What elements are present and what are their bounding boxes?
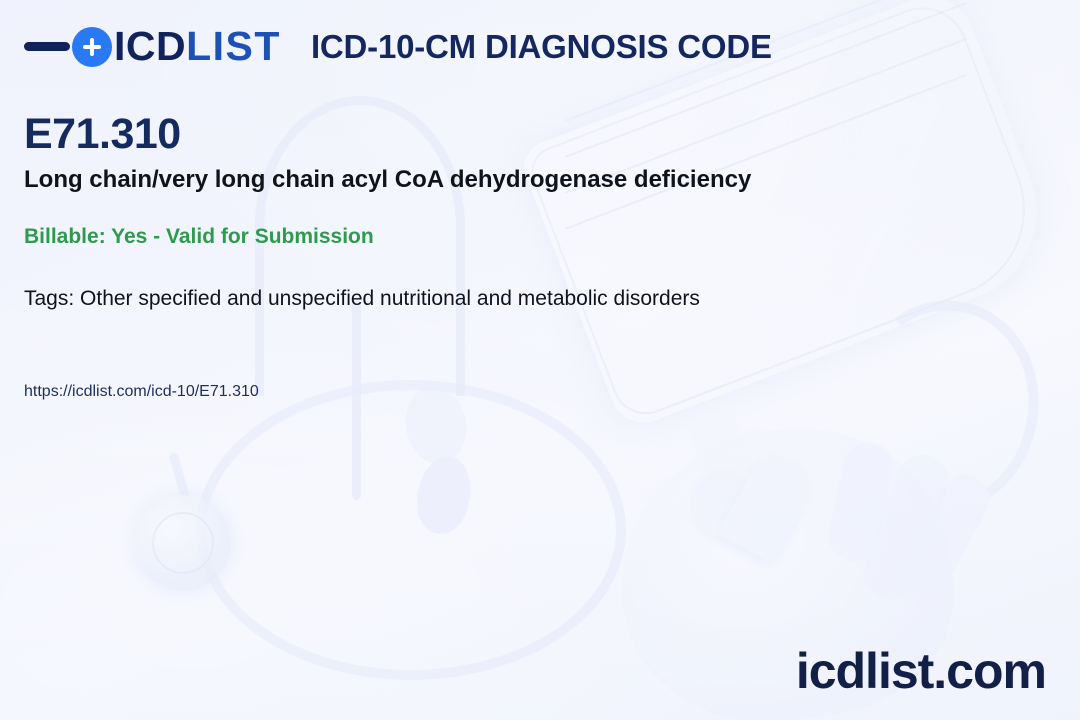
brand-watermark: icdlist.com: [796, 646, 1046, 696]
page-header: ICD LIST ICD-10-CM DIAGNOSIS CODE: [24, 26, 772, 67]
plus-icon: [72, 27, 112, 67]
dash-icon: [24, 42, 70, 51]
logo-text-list: LIST: [186, 26, 281, 67]
diagnosis-code: E71.310: [24, 113, 181, 156]
icdlist-logo[interactable]: ICD LIST: [24, 26, 281, 67]
source-url[interactable]: https://icdlist.com/icd-10/E71.310: [24, 382, 259, 401]
diagnosis-description: Long chain/very long chain acyl CoA dehy…: [24, 166, 751, 195]
icd-code-card: ICD LIST ICD-10-CM DIAGNOSIS CODE E71.31…: [0, 0, 1080, 720]
diagnosis-tags: Tags: Other specified and unspecified nu…: [24, 286, 700, 311]
billable-status: Billable: Yes - Valid for Submission: [24, 224, 374, 249]
page-title: ICD-10-CM DIAGNOSIS CODE: [311, 30, 772, 63]
logo-text-icd: ICD: [114, 26, 186, 67]
card-content: ICD LIST ICD-10-CM DIAGNOSIS CODE E71.31…: [0, 0, 1080, 720]
